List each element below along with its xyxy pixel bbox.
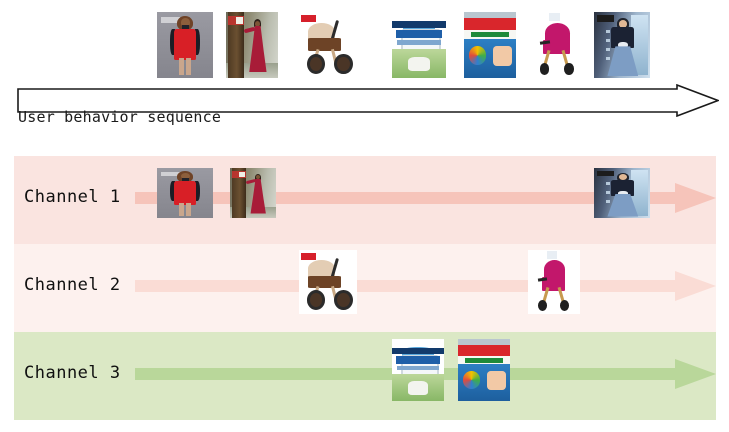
full-cream-milk-tub-labelSub	[397, 366, 439, 370]
product-thumbnail-pink-baby-stroller[interactable]	[528, 250, 580, 314]
formula-milk-can-greentxt	[471, 32, 508, 37]
red-long-dress-sign2	[239, 172, 245, 178]
red-long-dress-head	[255, 21, 260, 27]
red-long-dress-gown	[249, 26, 267, 72]
red-long-dress-artwork	[226, 12, 278, 78]
beige-baby-pram-wheelR	[334, 54, 353, 75]
pink-baby-stroller-wheelR	[564, 63, 574, 74]
blue-skirt-outfit-dots	[606, 30, 609, 62]
red-short-dress-legR	[186, 58, 190, 75]
red-short-dress-body	[174, 181, 195, 205]
blue-skirt-outfit-tag	[597, 171, 614, 176]
figure-canvas: User behavior sequence Channel 1 Channel…	[0, 0, 729, 432]
pink-baby-stroller-wheelL	[538, 300, 547, 311]
blue-skirt-outfit-dots	[606, 182, 609, 206]
full-cream-milk-tub-artwork	[392, 12, 446, 78]
channel-2-label: Channel 2	[24, 275, 121, 295]
full-cream-milk-tub-labelTxt	[396, 356, 440, 364]
red-short-dress-legR	[186, 203, 190, 216]
product-thumbnail-full-cream-milk-tub[interactable]	[392, 12, 446, 78]
full-cream-milk-tub-labelSub	[397, 40, 440, 45]
product-thumbnail-beige-baby-pram[interactable]	[299, 12, 357, 78]
formula-milk-can-artwork	[458, 339, 510, 401]
full-cream-milk-tub-labelTxt	[396, 30, 441, 39]
pink-baby-stroller-artwork	[528, 12, 586, 78]
right-arrow-block-icon	[135, 271, 716, 301]
beige-baby-pram-artwork	[299, 250, 357, 314]
channel-1-label: Channel 1	[24, 187, 121, 207]
red-long-dress-sign2	[236, 17, 242, 24]
product-thumbnail-formula-milk-can[interactable]	[464, 12, 516, 78]
red-long-dress-armR	[245, 179, 256, 184]
red-short-dress-body	[174, 29, 195, 61]
beige-baby-pram-wheelL	[307, 290, 326, 310]
product-thumbnail-beige-baby-pram[interactable]	[299, 250, 357, 314]
red-long-dress-gown	[250, 179, 266, 214]
product-thumbnail-blue-skirt-outfit[interactable]	[594, 168, 650, 218]
formula-milk-can-redband	[458, 345, 510, 357]
beige-baby-pram-brandtag	[301, 253, 316, 260]
channel-2-arrow	[135, 270, 716, 302]
red-short-dress-legL	[179, 58, 183, 75]
full-cream-milk-tub-cow	[408, 381, 429, 395]
formula-milk-can-greentxt	[465, 358, 502, 362]
channel-band-3: Channel 3	[14, 332, 716, 420]
full-cream-milk-tub-cow	[408, 57, 430, 72]
formula-milk-can-artwork	[464, 12, 516, 78]
pink-baby-stroller-wheelL	[540, 63, 550, 74]
full-cream-milk-tub-labelTop	[392, 21, 446, 28]
channel-3-label: Channel 3	[24, 363, 121, 383]
beige-baby-pram-wheelR	[334, 290, 353, 310]
pink-baby-stroller-logo	[549, 13, 561, 21]
blue-skirt-outfit-artwork	[594, 12, 650, 78]
formula-milk-can-ring	[463, 371, 481, 388]
beige-baby-pram-wheelL	[307, 54, 326, 75]
formula-milk-can-ring	[469, 46, 487, 64]
blue-skirt-outfit-artwork	[594, 168, 650, 218]
product-thumbnail-formula-milk-can[interactable]	[458, 339, 510, 401]
product-thumbnail-red-short-dress[interactable]	[157, 12, 213, 78]
red-short-dress-artwork	[157, 12, 213, 78]
product-thumbnail-red-short-dress[interactable]	[157, 168, 213, 218]
formula-milk-can-redband	[464, 18, 516, 31]
product-thumbnail-red-long-dress[interactable]	[230, 168, 276, 218]
channel-band-1: Channel 1	[14, 156, 716, 244]
full-cream-milk-tub-labelTop	[392, 348, 444, 354]
beige-baby-pram-basket	[308, 276, 340, 288]
full-cream-milk-tub-artwork	[392, 339, 444, 401]
red-long-dress-artwork	[230, 168, 276, 218]
pink-baby-stroller-wheelR	[560, 300, 569, 311]
sequence-caption: User behavior sequence	[18, 108, 221, 126]
beige-baby-pram-basket	[308, 38, 340, 51]
product-thumbnail-red-long-dress[interactable]	[226, 12, 278, 78]
blue-skirt-outfit-tag	[597, 15, 614, 22]
channel-band-2: Channel 2	[14, 244, 716, 332]
beige-baby-pram-brandtag	[301, 15, 316, 22]
pink-baby-stroller-artwork	[528, 250, 580, 314]
red-short-dress-legL	[179, 203, 183, 216]
beige-baby-pram-artwork	[299, 12, 357, 78]
formula-milk-can-mother	[493, 46, 512, 66]
pink-baby-stroller-logo	[547, 251, 557, 259]
product-thumbnail-blue-skirt-outfit[interactable]	[594, 12, 650, 78]
product-thumbnail-full-cream-milk-tub[interactable]	[392, 339, 444, 401]
product-thumbnail-pink-baby-stroller[interactable]	[528, 12, 586, 78]
red-long-dress-armR	[243, 27, 255, 34]
formula-milk-can-mother	[487, 371, 506, 390]
red-short-dress-artwork	[157, 168, 213, 218]
